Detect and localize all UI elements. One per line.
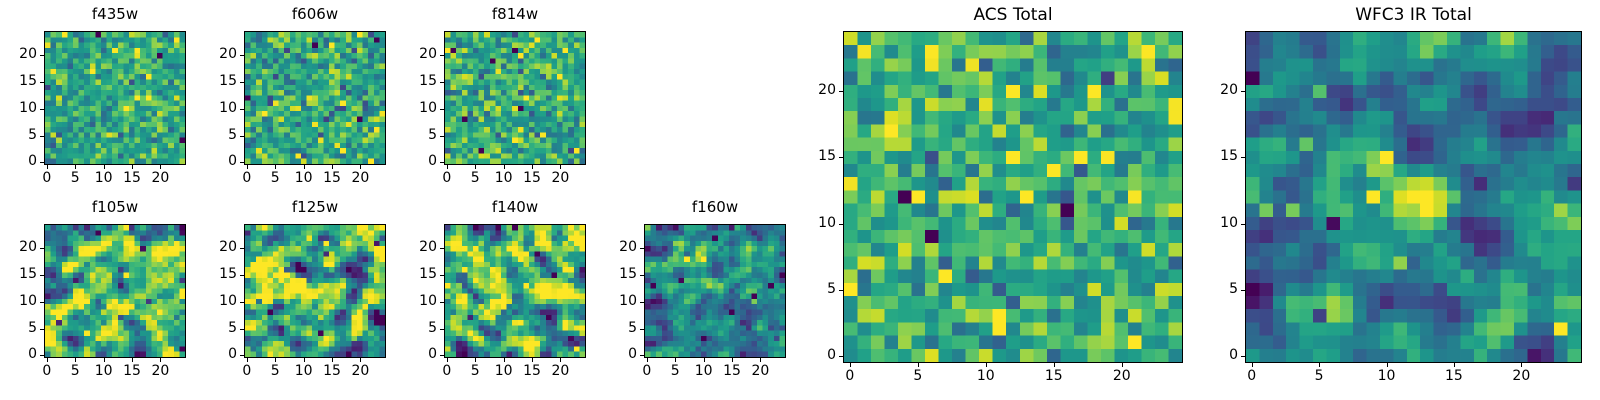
y-tick-label-f140w-5: 5 (404, 321, 437, 335)
y-tick-f125w-20 (240, 248, 244, 249)
panel-title-f435w: f435w (44, 7, 186, 22)
y-tick-wfc3-ir-total-0 (1241, 356, 1245, 357)
y-tick-label-f814w-5: 5 (404, 128, 437, 142)
x-tick-f435w-20 (160, 165, 161, 169)
x-tick-wfc3-ir-total-20 (1521, 363, 1522, 367)
x-tick-label-f435w-20: 20 (140, 171, 180, 185)
y-tick-f105w-0 (40, 355, 44, 356)
x-tick-f435w-0 (47, 165, 48, 169)
x-tick-f160w-20 (760, 358, 761, 362)
y-tick-label-f160w-15: 15 (604, 267, 637, 281)
y-tick-label-f435w-0: 0 (4, 154, 37, 168)
y-tick-label-f125w-15: 15 (204, 267, 237, 281)
heatmap-image-f140w (445, 225, 585, 357)
y-tick-f814w-15 (440, 82, 444, 83)
panel-f606w: f606w0055101015152020 (204, 5, 406, 199)
y-tick-label-acs-total-5: 5 (803, 282, 836, 296)
heatmap-image-f125w (245, 225, 385, 357)
y-tick-label-f105w-15: 15 (4, 267, 37, 281)
y-tick-label-wfc3-ir-total-0: 0 (1205, 348, 1238, 362)
x-tick-acs-total-5 (918, 363, 919, 367)
x-tick-label-acs-total-5: 5 (898, 369, 938, 383)
y-tick-label-wfc3-ir-total-10: 10 (1205, 216, 1238, 230)
y-tick-label-f814w-10: 10 (404, 101, 437, 115)
x-tick-label-f160w-20: 20 (740, 364, 780, 378)
heatmap-image-f105w (45, 225, 185, 357)
panel-title-f606w: f606w (244, 7, 386, 22)
x-tick-f814w-10 (504, 165, 505, 169)
heatmap-image-f814w (445, 32, 585, 164)
x-tick-wfc3-ir-total-10 (1387, 363, 1388, 367)
heatmap-axes-f814w (444, 31, 586, 165)
x-tick-f160w-10 (704, 358, 705, 362)
y-tick-f160w-15 (640, 275, 644, 276)
x-tick-f105w-15 (132, 358, 133, 362)
y-tick-wfc3-ir-total-10 (1241, 224, 1245, 225)
y-tick-wfc3-ir-total-15 (1241, 157, 1245, 158)
y-tick-label-f606w-15: 15 (204, 74, 237, 88)
x-tick-f140w-20 (560, 358, 561, 362)
y-tick-label-f105w-10: 10 (4, 294, 37, 308)
x-tick-f105w-10 (104, 358, 105, 362)
panel-acs-total: ACS Total0055101015152020 (803, 5, 1203, 397)
x-tick-f160w-15 (732, 358, 733, 362)
x-tick-f814w-0 (447, 165, 448, 169)
y-tick-f160w-10 (640, 302, 644, 303)
heatmap-axes-f125w (244, 224, 386, 358)
y-tick-f606w-5 (240, 136, 244, 137)
heatmap-image-acs-total (844, 32, 1182, 362)
x-tick-f125w-15 (332, 358, 333, 362)
y-tick-f140w-10 (440, 302, 444, 303)
x-tick-acs-total-15 (1054, 363, 1055, 367)
y-tick-label-f814w-0: 0 (404, 154, 437, 168)
y-tick-f160w-0 (640, 355, 644, 356)
y-tick-label-f125w-20: 20 (204, 240, 237, 254)
y-tick-label-f606w-0: 0 (204, 154, 237, 168)
x-tick-label-f105w-20: 20 (140, 364, 180, 378)
x-tick-acs-total-20 (1122, 363, 1123, 367)
x-tick-wfc3-ir-total-5 (1319, 363, 1320, 367)
x-tick-wfc3-ir-total-15 (1454, 363, 1455, 367)
y-tick-f105w-20 (40, 248, 44, 249)
x-tick-f125w-0 (247, 358, 248, 362)
y-tick-label-wfc3-ir-total-20: 20 (1205, 83, 1238, 97)
heatmap-axes-f435w (44, 31, 186, 165)
y-tick-f435w-0 (40, 162, 44, 163)
panel-f814w: f814w0055101015152020 (404, 5, 606, 199)
y-tick-label-f105w-20: 20 (4, 240, 37, 254)
panel-title-wfc3-ir-total: WFC3 IR Total (1245, 7, 1582, 24)
y-tick-label-acs-total-20: 20 (803, 83, 836, 97)
x-tick-f140w-15 (532, 358, 533, 362)
x-tick-label-acs-total-15: 15 (1034, 369, 1074, 383)
x-tick-f606w-10 (304, 165, 305, 169)
x-tick-f435w-5 (75, 165, 76, 169)
heatmap-axes-f105w (44, 224, 186, 358)
y-tick-f140w-15 (440, 275, 444, 276)
x-tick-f160w-0 (647, 358, 648, 362)
x-tick-f435w-10 (104, 165, 105, 169)
y-tick-f105w-15 (40, 275, 44, 276)
x-tick-label-f140w-20: 20 (540, 364, 580, 378)
heatmap-axes-f606w (244, 31, 386, 165)
x-tick-label-f814w-20: 20 (540, 171, 580, 185)
panel-f140w: f140w0055101015152020 (404, 198, 606, 392)
y-tick-f435w-5 (40, 136, 44, 137)
y-tick-label-f814w-20: 20 (404, 47, 437, 61)
x-tick-f606w-20 (360, 165, 361, 169)
x-tick-label-f606w-20: 20 (340, 171, 380, 185)
panel-wfc3-ir-total: WFC3 IR Total0055101015152020 (1205, 5, 1600, 397)
y-tick-label-acs-total-0: 0 (803, 348, 836, 362)
y-tick-acs-total-5 (839, 290, 843, 291)
x-tick-f606w-0 (247, 165, 248, 169)
y-tick-label-f435w-5: 5 (4, 128, 37, 142)
x-tick-wfc3-ir-total-0 (1252, 363, 1253, 367)
x-tick-f105w-0 (47, 358, 48, 362)
y-tick-f140w-5 (440, 329, 444, 330)
x-tick-f125w-10 (304, 358, 305, 362)
y-tick-f606w-15 (240, 82, 244, 83)
y-tick-f435w-20 (40, 55, 44, 56)
x-tick-acs-total-10 (986, 363, 987, 367)
panel-title-acs-total: ACS Total (843, 7, 1183, 24)
panel-title-f125w: f125w (244, 200, 386, 215)
y-tick-label-f140w-15: 15 (404, 267, 437, 281)
x-tick-label-wfc3-ir-total-15: 15 (1434, 369, 1474, 383)
y-tick-acs-total-15 (839, 157, 843, 158)
y-tick-label-f435w-20: 20 (4, 47, 37, 61)
y-tick-acs-total-0 (839, 356, 843, 357)
y-tick-label-acs-total-10: 10 (803, 216, 836, 230)
panel-title-f814w: f814w (444, 7, 586, 22)
y-tick-label-f140w-10: 10 (404, 294, 437, 308)
x-tick-f105w-20 (160, 358, 161, 362)
y-tick-label-f140w-0: 0 (404, 347, 437, 361)
x-tick-f606w-5 (275, 165, 276, 169)
x-tick-label-wfc3-ir-total-10: 10 (1367, 369, 1407, 383)
y-tick-wfc3-ir-total-20 (1241, 91, 1245, 92)
y-tick-acs-total-10 (839, 224, 843, 225)
y-tick-label-f125w-5: 5 (204, 321, 237, 335)
y-tick-label-f105w-5: 5 (4, 321, 37, 335)
heatmap-axes-f160w (644, 224, 786, 358)
y-tick-label-f105w-0: 0 (4, 347, 37, 361)
y-tick-label-f435w-10: 10 (4, 101, 37, 115)
y-tick-label-acs-total-15: 15 (803, 149, 836, 163)
x-tick-f105w-5 (75, 358, 76, 362)
x-tick-label-acs-total-20: 20 (1102, 369, 1142, 383)
x-tick-f435w-15 (132, 165, 133, 169)
x-tick-label-acs-total-10: 10 (966, 369, 1006, 383)
x-tick-f125w-20 (360, 358, 361, 362)
x-tick-f140w-0 (447, 358, 448, 362)
y-tick-f140w-20 (440, 248, 444, 249)
panel-f435w: f435w0055101015152020 (4, 5, 206, 199)
panel-title-f140w: f140w (444, 200, 586, 215)
x-tick-f160w-5 (675, 358, 676, 362)
y-tick-label-f606w-10: 10 (204, 101, 237, 115)
y-tick-f435w-15 (40, 82, 44, 83)
y-tick-acs-total-20 (839, 91, 843, 92)
y-tick-f814w-0 (440, 162, 444, 163)
x-tick-f814w-15 (532, 165, 533, 169)
y-tick-label-f606w-5: 5 (204, 128, 237, 142)
heatmap-axes-f140w (444, 224, 586, 358)
y-tick-label-f160w-10: 10 (604, 294, 637, 308)
x-tick-label-f125w-20: 20 (340, 364, 380, 378)
heatmap-image-f435w (45, 32, 185, 164)
heatmap-image-f606w (245, 32, 385, 164)
x-tick-f140w-10 (504, 358, 505, 362)
heatmap-axes-wfc3-ir-total (1245, 31, 1582, 363)
y-tick-label-f125w-0: 0 (204, 347, 237, 361)
panel-title-f105w: f105w (44, 200, 186, 215)
y-tick-f140w-0 (440, 355, 444, 356)
y-tick-wfc3-ir-total-5 (1241, 290, 1245, 291)
y-tick-f814w-20 (440, 55, 444, 56)
y-tick-f814w-5 (440, 136, 444, 137)
y-tick-f105w-10 (40, 302, 44, 303)
x-tick-label-acs-total-0: 0 (830, 369, 870, 383)
y-tick-label-f606w-20: 20 (204, 47, 237, 61)
x-tick-label-wfc3-ir-total-5: 5 (1299, 369, 1339, 383)
heatmap-axes-acs-total (843, 31, 1183, 363)
y-tick-f606w-0 (240, 162, 244, 163)
y-tick-label-f160w-20: 20 (604, 240, 637, 254)
x-tick-acs-total-0 (850, 363, 851, 367)
y-tick-f125w-15 (240, 275, 244, 276)
y-tick-label-f160w-0: 0 (604, 347, 637, 361)
y-tick-label-wfc3-ir-total-5: 5 (1205, 282, 1238, 296)
panel-f160w: f160w0055101015152020 (604, 198, 806, 392)
panel-f125w: f125w0055101015152020 (204, 198, 406, 392)
heatmap-image-f160w (645, 225, 785, 357)
y-tick-f125w-5 (240, 329, 244, 330)
y-tick-label-f140w-20: 20 (404, 240, 437, 254)
y-tick-f435w-10 (40, 109, 44, 110)
y-tick-f105w-5 (40, 329, 44, 330)
panel-title-f160w: f160w (644, 200, 786, 215)
y-tick-label-f814w-15: 15 (404, 74, 437, 88)
y-tick-label-wfc3-ir-total-15: 15 (1205, 149, 1238, 163)
y-tick-f160w-20 (640, 248, 644, 249)
x-tick-label-wfc3-ir-total-0: 0 (1232, 369, 1272, 383)
y-tick-label-f435w-15: 15 (4, 74, 37, 88)
y-tick-f606w-20 (240, 55, 244, 56)
y-tick-f125w-0 (240, 355, 244, 356)
figure-canvas: f435w0055101015152020f606w00551010151520… (0, 0, 1600, 400)
x-tick-f814w-5 (475, 165, 476, 169)
y-tick-f814w-10 (440, 109, 444, 110)
y-tick-label-f125w-10: 10 (204, 294, 237, 308)
x-tick-f140w-5 (475, 358, 476, 362)
x-tick-f814w-20 (560, 165, 561, 169)
y-tick-label-f160w-5: 5 (604, 321, 637, 335)
x-tick-label-wfc3-ir-total-20: 20 (1501, 369, 1541, 383)
x-tick-f125w-5 (275, 358, 276, 362)
y-tick-f606w-10 (240, 109, 244, 110)
panel-f105w: f105w0055101015152020 (4, 198, 206, 392)
y-tick-f125w-10 (240, 302, 244, 303)
y-tick-f160w-5 (640, 329, 644, 330)
x-tick-f606w-15 (332, 165, 333, 169)
heatmap-image-wfc3-ir-total (1246, 32, 1581, 362)
